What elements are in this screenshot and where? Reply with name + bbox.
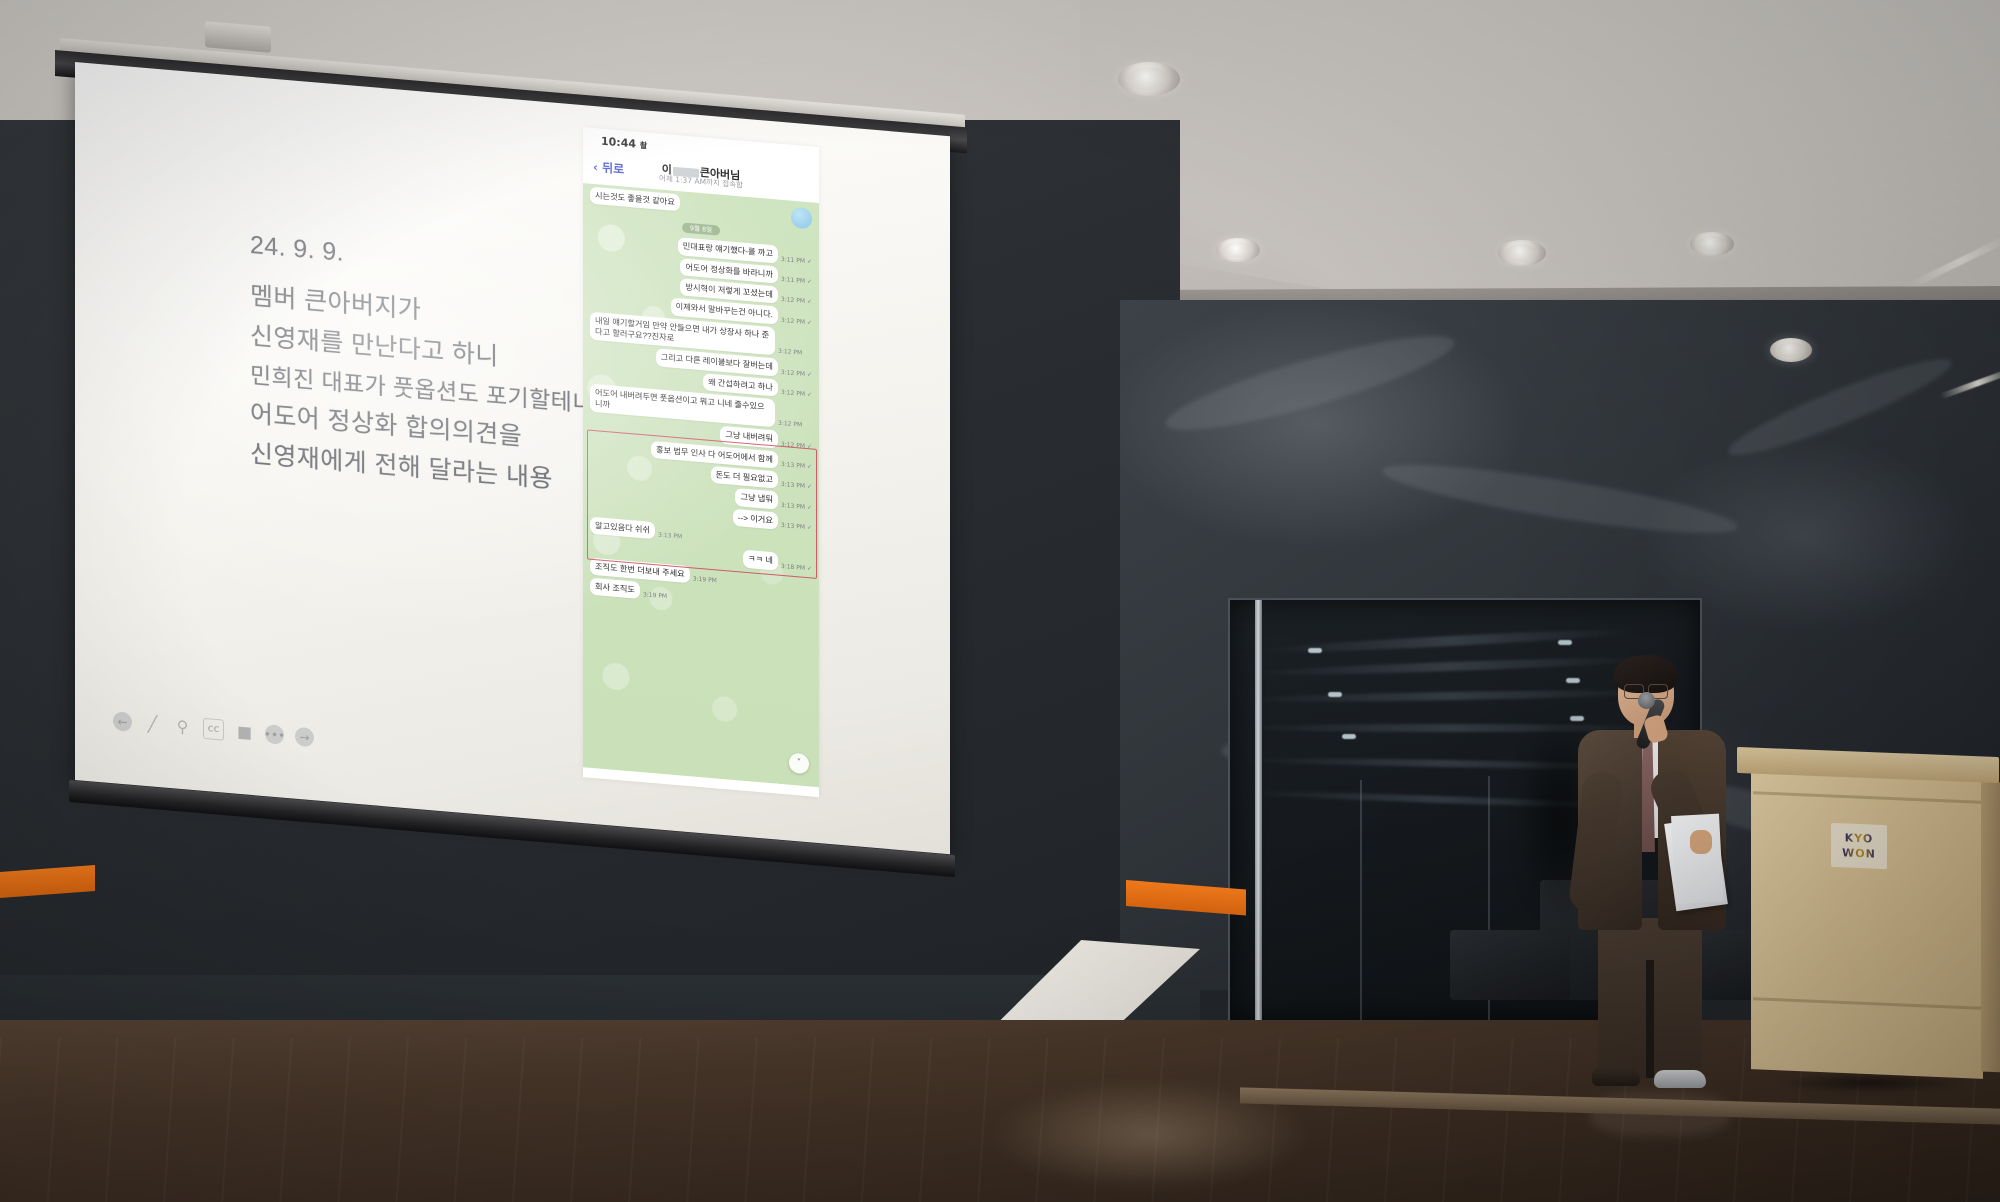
message-timestamp: 3:13 PM ✓ bbox=[781, 461, 812, 472]
presenter-shoe-right bbox=[1654, 1070, 1706, 1088]
chat-message-list[interactable]: 시는것도 좋을것 같아요9월 8일민대표랑 얘기했다-를 까고3:11 PM ✓… bbox=[583, 183, 819, 787]
zoom-magnifier-icon[interactable]: ⚲ bbox=[173, 716, 192, 737]
message-bubble: 돈도 더 필요없고 bbox=[711, 466, 778, 489]
slide-text-block: 24. 9. 9. 멤버 큰아버지가 신영재를 만난다고 하니 민희진 대표가 … bbox=[250, 225, 630, 507]
message-timestamp: 3:12 PM bbox=[778, 420, 802, 430]
message-timestamp: 3:19 PM bbox=[693, 575, 717, 585]
message-bubble: 그냥 내버려둬 bbox=[720, 426, 777, 448]
closed-captions-icon[interactable]: CC bbox=[203, 718, 224, 741]
podium-logo: KYO WON bbox=[1831, 823, 1887, 869]
message-timestamp: 3:13 PM ✓ bbox=[781, 502, 812, 513]
message-timestamp: 3:12 PM ✓ bbox=[781, 368, 812, 379]
ceiling-downlight bbox=[1498, 240, 1546, 266]
ceiling-downlight bbox=[1770, 338, 1812, 362]
message-timestamp: 3:18 PM ✓ bbox=[781, 563, 812, 574]
podium-logo-line-1: KYO bbox=[1845, 831, 1873, 845]
auditorium-scene: 24. 9. 9. 멤버 큰아버지가 신영재를 만난다고 하니 민희진 대표가 … bbox=[0, 0, 2000, 1202]
phone-clock: 10:44 촬 bbox=[601, 135, 647, 152]
message-timestamp: 3:13 PM ✓ bbox=[781, 522, 812, 533]
message-bubble: 그냥 냅둬 bbox=[735, 488, 777, 509]
present-video-icon[interactable]: ■ bbox=[235, 722, 254, 743]
message-timestamp: 3:13 PM bbox=[658, 532, 682, 542]
kakaotalk-screenshot: 10:44 촬 ‹ 뒤로 이큰아버님 어제 1:37 AM까지 접속함 bbox=[583, 127, 819, 797]
presenter-person bbox=[1562, 660, 1742, 1110]
podium-front-panel bbox=[1751, 769, 1983, 1079]
message-timestamp: 3:13 PM ✓ bbox=[781, 481, 812, 492]
message-timestamp: 3:12 PM ✓ bbox=[781, 316, 812, 327]
projection-screen-surface: 24. 9. 9. 멤버 큰아버지가 신영재를 만난다고 하니 민희진 대표가 … bbox=[75, 62, 950, 854]
message-timestamp: 3:12 PM ✓ bbox=[781, 296, 812, 307]
message-timestamp: 3:12 PM ✓ bbox=[781, 441, 812, 452]
presenter-leg-gap bbox=[1646, 960, 1654, 1078]
presenter-hand-right bbox=[1690, 830, 1712, 854]
scroll-to-bottom-button[interactable]: ˅ bbox=[789, 753, 809, 775]
presentation-slide: 24. 9. 9. 멤버 큰아버지가 신영재를 만난다고 하니 민희진 대표가 … bbox=[75, 62, 950, 854]
screen-rail-bracket bbox=[205, 21, 271, 53]
message-bubble: ㅋㅋ 네 bbox=[743, 550, 778, 570]
previous-slide-icon[interactable]: ← bbox=[113, 711, 132, 732]
message-timestamp: 3:11 PM ✓ bbox=[781, 276, 812, 287]
message-timestamp: 3:19 PM bbox=[643, 591, 667, 601]
presenter-toolbar[interactable]: ←╱⚲CC■•••→ bbox=[113, 710, 314, 748]
message-bubble: 왜 간섭하려고 하나 bbox=[703, 373, 778, 397]
message-bubble: 회사 조직도 bbox=[590, 578, 640, 600]
glass-panel-mullion-pillar bbox=[1255, 600, 1262, 1020]
ceiling-downlight bbox=[1118, 62, 1180, 96]
podium-logo-line-2: WON bbox=[1842, 846, 1876, 860]
podium-side-panel bbox=[1981, 781, 2000, 1072]
projection-screen-assembly: 24. 9. 9. 멤버 큰아버지가 신영재를 만난다고 하니 민희진 대표가 … bbox=[55, 38, 955, 968]
floor-light-reflection bbox=[940, 1060, 1360, 1202]
pen-tool-icon[interactable]: ╱ bbox=[143, 714, 162, 735]
next-slide-icon[interactable]: → bbox=[295, 727, 314, 748]
chat-messages-container: 시는것도 좋을것 같아요9월 8일민대표랑 얘기했다-를 까고3:11 PM ✓… bbox=[590, 187, 812, 614]
message-bubble: --> 이거요 bbox=[733, 508, 778, 529]
message-timestamp: 3:11 PM ✓ bbox=[781, 256, 812, 267]
ceiling-downlight bbox=[1216, 238, 1260, 262]
message-timestamp: 3:12 PM bbox=[778, 348, 802, 358]
more-options-icon[interactable]: ••• bbox=[265, 724, 284, 745]
message-timestamp: 3:12 PM ✓ bbox=[781, 389, 812, 400]
wooden-podium: KYO WON bbox=[1745, 752, 2000, 1082]
presenter-shoe-left bbox=[1592, 1068, 1640, 1086]
ceiling-downlight bbox=[1690, 232, 1734, 256]
message-bubble: 알고있음다 쉬쉬 bbox=[590, 517, 655, 540]
